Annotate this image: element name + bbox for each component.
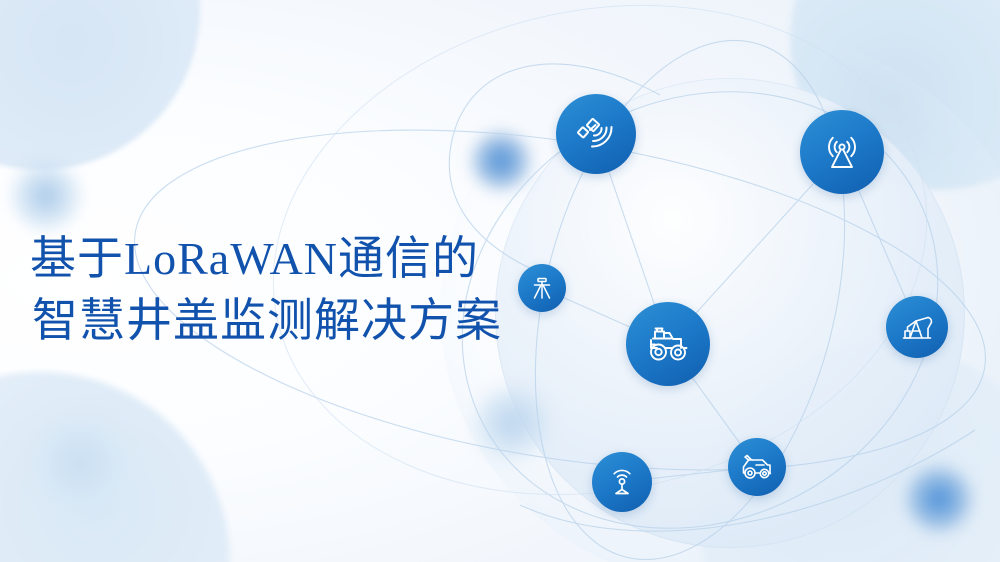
badge-harvester[interactable] [728, 438, 786, 496]
satellite-icon [574, 112, 618, 156]
radio-tower-icon [819, 129, 865, 175]
badge-satellite[interactable] [556, 94, 636, 174]
badge-wifi-sensor[interactable] [592, 452, 652, 512]
tractor-icon [643, 319, 693, 369]
badge-survey-tripod[interactable] [518, 264, 566, 312]
wifi-sensor-icon [605, 465, 639, 499]
badge-radio-tower[interactable] [800, 110, 884, 194]
slide-canvas: 基于LoRaWAN通信的 智慧井盖监测解决方案 [0, 0, 1000, 562]
title-line-1: 基于LoRaWAN通信的 [30, 228, 502, 290]
oil-pumpjack-icon [899, 309, 935, 345]
survey-tripod-icon [528, 274, 556, 302]
badge-oil-pumpjack[interactable] [886, 296, 948, 358]
badge-tractor[interactable] [626, 302, 710, 386]
title-line-2: 智慧井盖监测解决方案 [30, 290, 502, 352]
slide-title: 基于LoRaWAN通信的 智慧井盖监测解决方案 [30, 228, 502, 352]
harvester-icon [739, 449, 775, 485]
